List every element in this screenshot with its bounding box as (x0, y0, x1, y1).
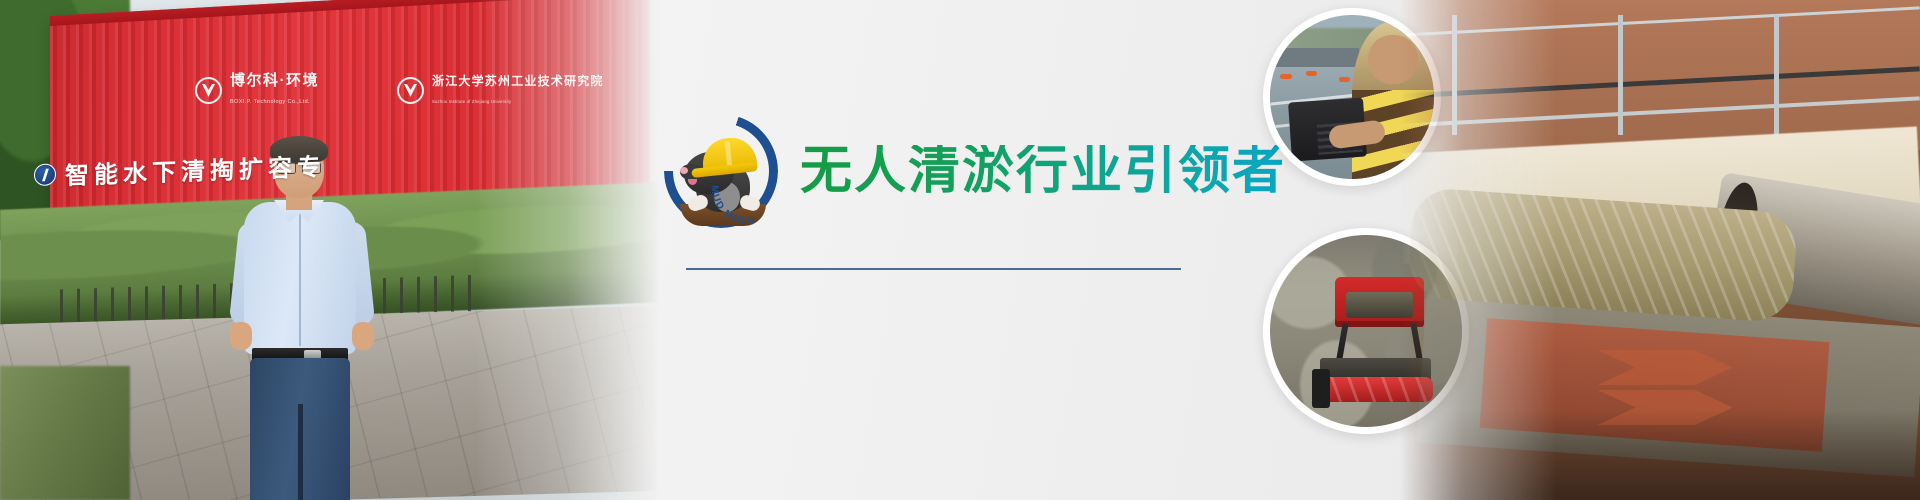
shield-mark-icon (195, 77, 222, 104)
guardrail-post (1618, 15, 1623, 135)
person-left-hand (230, 322, 252, 350)
check-badge-icon (34, 163, 56, 186)
container-logo-secondary: 浙江大学苏州工业技术研究院 Suzhou Institute of Zhejia… (397, 72, 604, 109)
right-pipe-photo (1400, 0, 1920, 500)
mole-nose (680, 167, 688, 174)
mud-mole-logo: MUD MOLE (660, 110, 782, 232)
container-logo-group: 博尔科·环境 BOXI.P. Technology Co.,Ltd. 浙江大学苏… (195, 72, 604, 109)
container-brand-cn: 博尔科·环境 (230, 72, 319, 89)
container-institute-cn: 浙江大学苏州工业技术研究院 (432, 74, 604, 88)
float-buoy (1306, 71, 1317, 76)
person-shirt (244, 202, 356, 354)
person-right-hand (352, 322, 374, 350)
float-buoy (1339, 77, 1350, 82)
left-site-photo: 博尔科·环境 BOXI.P. Technology Co.,Ltd. 浙江大学苏… (0, 0, 660, 500)
person-photo (236, 140, 366, 500)
svg-text:MUD MOLE: MUD MOLE (709, 185, 757, 227)
container-institute-en: Suzhou Institute of Zhejiang University (432, 99, 511, 104)
container-logo-primary: 博尔科·环境 BOXI.P. Technology Co.,Ltd. (195, 72, 319, 109)
bottom-shadow (1400, 410, 1920, 500)
divider (686, 268, 1181, 270)
guardrail-post (1452, 15, 1457, 135)
hero-banner: 博尔科·环境 BOXI.P. Technology Co.,Ltd. 浙江大学苏… (0, 0, 1920, 500)
auger-endcap (1312, 369, 1329, 407)
university-crest-icon (397, 77, 424, 104)
float-buoy (1280, 74, 1292, 79)
brand-row: MUD MOLE 无人清淤行业引领者 (660, 110, 1240, 232)
logo-curved-text: MUD MOLE (708, 150, 786, 228)
grass-patch (0, 366, 130, 500)
center-branding: MUD MOLE 无人清淤行业引领者 (640, 0, 1260, 500)
container-brand-en: BOXI.P. Technology Co.,Ltd. (230, 99, 310, 105)
person-jeans (250, 358, 350, 500)
building (1273, 48, 1358, 68)
guardrail-post (1774, 15, 1779, 135)
logo-curved-text-label: MUD MOLE (709, 185, 757, 227)
page-title: 无人清淤行业引领者 (800, 145, 1286, 197)
